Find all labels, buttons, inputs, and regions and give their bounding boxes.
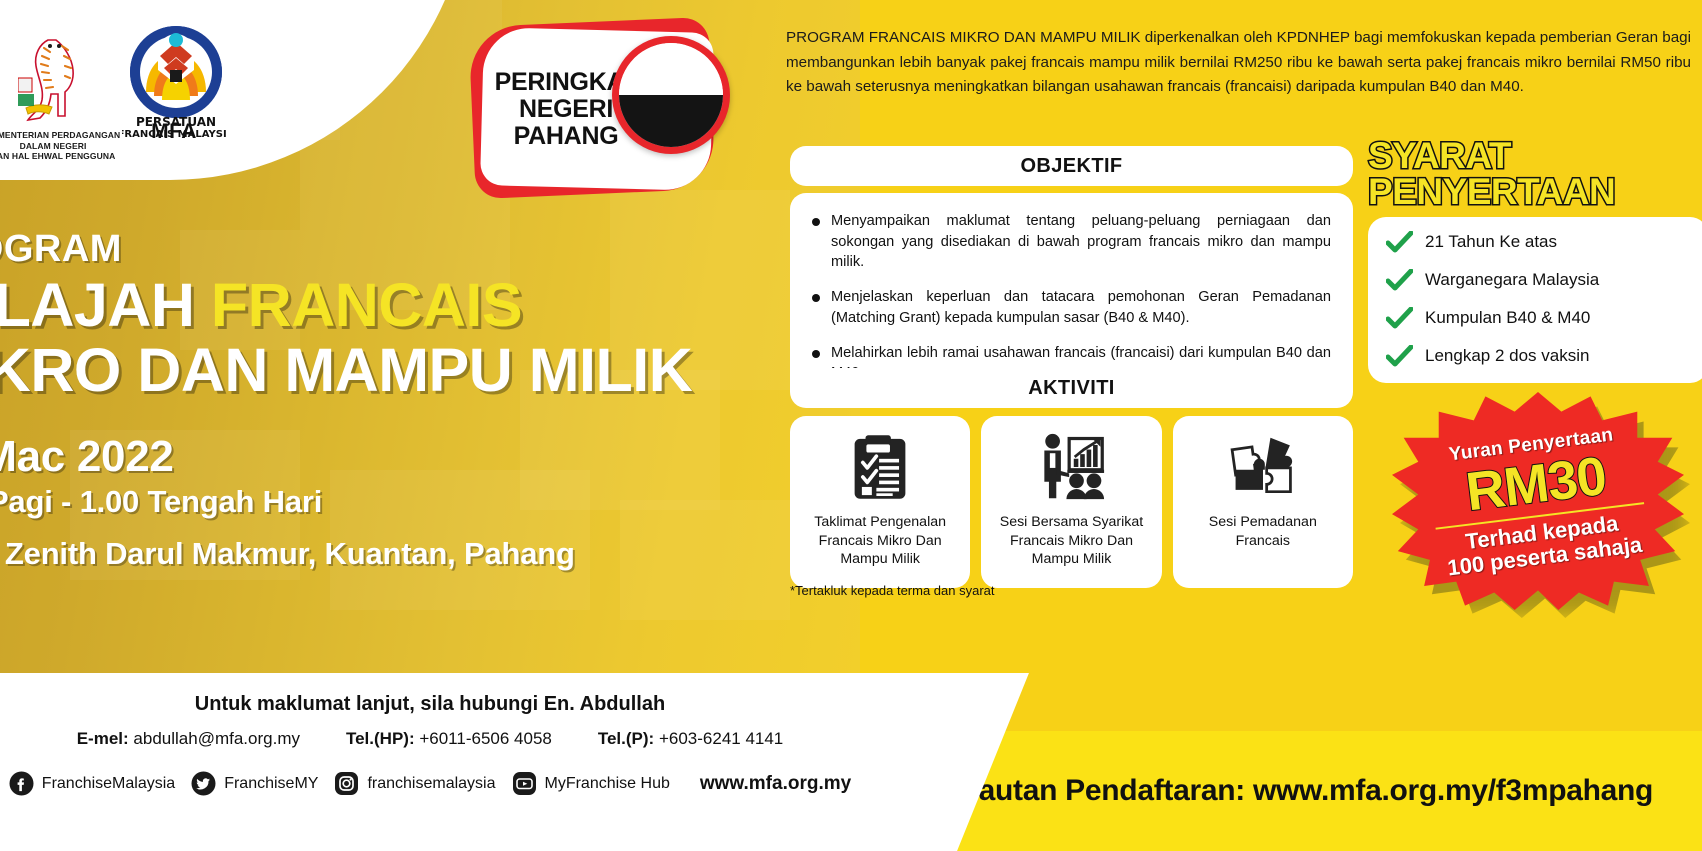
aktiviti-card-label: Sesi Bersama Syarikat Francais Mikro Dan… (981, 513, 1161, 569)
puzzle-pieces-icon (1226, 430, 1300, 504)
syarat-item: Warganegara Malaysia (1386, 269, 1698, 291)
social-facebook[interactable]: FranchiseMalaysia (9, 771, 175, 796)
contact-details-row: E-mel: abdullah@mfa.org.my Tel.(HP): +60… (0, 729, 860, 749)
syarat-section: SYARAT PENYERTAAN 21 Tahun Ke atas Warga… (1368, 138, 1702, 383)
fee-badge-content: Yuran Penyertaan RM30 Terhad kepada 100 … (1380, 375, 1696, 627)
bullet-icon (812, 294, 820, 302)
aktiviti-card: Sesi Pemadanan Francais (1173, 416, 1353, 588)
contact-bar: Untuk maklumat lanjut, sila hubungi En. … (0, 673, 905, 851)
check-icon (1386, 345, 1413, 367)
social-handle: franchisemalaysia (367, 775, 495, 793)
contact-heading: Untuk maklumat lanjut, sila hubungi En. … (0, 693, 860, 716)
mfa-logo: PERSATUAN FRANCAIS MALAYSIA MFA (122, 14, 226, 164)
email-value: abdullah@mfa.org.my (133, 729, 300, 748)
title-line-1-highlight: FRANCAIS (211, 271, 522, 339)
check-icon (1386, 269, 1413, 291)
aktiviti-card: Taklimat Pengenalan Francais Mikro Dan M… (790, 416, 970, 588)
hp-label: Tel.(HP): (346, 729, 415, 748)
instagram-icon (334, 771, 359, 796)
objektif-heading: OBJEKTIF (790, 146, 1353, 186)
facebook-icon (9, 771, 34, 796)
malaysia-coat-of-arms-icon (18, 30, 104, 126)
aktiviti-heading: AKTIVITI (790, 368, 1353, 408)
fee-starburst-badge: Yuran Penyertaan RM30 Terhad kepada 100 … (1392, 392, 1702, 622)
clipboard-checklist-icon (843, 430, 917, 504)
hp-value: +6011-6506 4058 (419, 729, 552, 748)
syarat-list: 21 Tahun Ke atas Warganegara Malaysia Ku… (1368, 217, 1702, 383)
phone-value: +603-6241 4141 (659, 729, 783, 748)
title-line-1-plain: JELAJAH (0, 271, 211, 339)
peringkat-negeri-badge: PERINGKAT NEGERI PAHANG (462, 14, 732, 214)
objektif-item-text: Menyampaikan maklumat tentang peluang-pe… (831, 211, 1331, 273)
social-youtube[interactable]: MyFranchise Hub (512, 771, 670, 796)
intro-paragraph: PROGRAM FRANCAIS MIKRO DAN MAMPU MILIK d… (786, 26, 1691, 100)
syarat-heading: SYARAT PENYERTAAN (1368, 138, 1702, 211)
program-kicker: PROGRAM (0, 228, 800, 271)
phone-label: Tel.(P): (598, 729, 654, 748)
syarat-item: Lengkap 2 dos vaksin (1386, 345, 1698, 367)
objektif-item-text: Menjelaskan keperluan dan tatacara pemoh… (831, 287, 1331, 328)
social-row: FranchiseMalaysia FranchiseMY (0, 771, 860, 796)
mfa-abbr-label: MFA (122, 120, 226, 144)
contact-mobile[interactable]: Tel.(HP): +6011-6506 4058 (346, 729, 552, 749)
bullet-icon (812, 218, 820, 226)
youtube-icon (512, 771, 537, 796)
syarat-item-text: Kumpulan B40 & M40 (1425, 308, 1590, 328)
twitter-icon (191, 771, 216, 796)
aktiviti-card: Sesi Bersama Syarikat Francais Mikro Dan… (981, 416, 1161, 588)
social-handle: FranchiseMY (224, 775, 318, 793)
social-handle: FranchiseMalaysia (42, 775, 175, 793)
event-venue: Hotel Zenith Darul Makmur, Kuantan, Paha… (0, 536, 800, 572)
title-line-2: MIKRO DAN MAMPU MILIK (0, 338, 800, 403)
aktiviti-section: AKTIVITI (790, 368, 1353, 588)
objektif-item: Menjelaskan keperluan dan tatacara pemoh… (812, 287, 1331, 328)
banner-canvas: KEMENTERIAN PERDAGANGAN DALAM NEGERI DAN… (0, 0, 1702, 851)
title-line-1: JELAJAH FRANCAIS (0, 273, 800, 338)
contact-email[interactable]: E-mel: abdullah@mfa.org.my (77, 729, 300, 749)
event-date: 17 Mac 2022 (0, 432, 800, 482)
aktiviti-card-label: Sesi Pemadanan Francais (1173, 513, 1353, 550)
check-icon (1386, 307, 1413, 329)
event-time: 9.00 Pagi - 1.00 Tengah Hari (0, 484, 800, 520)
syarat-item-text: Warganegara Malaysia (1425, 270, 1599, 290)
social-handle: MyFranchise Hub (545, 775, 670, 793)
email-label: E-mel: (77, 729, 129, 748)
aktiviti-card-row: Taklimat Pengenalan Francais Mikro Dan M… (790, 416, 1353, 588)
aktiviti-card-label: Taklimat Pengenalan Francais Mikro Dan M… (790, 513, 970, 569)
contact-phone[interactable]: Tel.(P): +603-6241 4141 (598, 729, 783, 749)
syarat-item-text: 21 Tahun Ke atas (1425, 232, 1557, 252)
syarat-item-text: Lengkap 2 dos vaksin (1425, 346, 1589, 366)
social-instagram[interactable]: franchisemalaysia (334, 771, 495, 796)
syarat-item: 21 Tahun Ke atas (1386, 231, 1698, 253)
bullet-icon (812, 350, 820, 358)
kpdnhep-label: KEMENTERIAN PERDAGANGAN DALAM NEGERI DAN… (0, 130, 128, 162)
syarat-item: Kumpulan B40 & M40 (1386, 307, 1698, 329)
objektif-item: Menyampaikan maklumat tentang peluang-pe… (812, 211, 1331, 273)
objektif-section: OBJEKTIF Menyampaikan maklumat tentang p… (790, 146, 1353, 400)
presentation-audience-icon (1034, 430, 1108, 504)
website-link[interactable]: www.mfa.org.my (700, 773, 851, 795)
terms-note: *Tertakluk kepada terma dan syarat (790, 583, 995, 598)
pahang-flag-icon (612, 36, 730, 154)
logo-row: KEMENTERIAN PERDAGANGAN DALAM NEGERI DAN… (0, 14, 230, 164)
social-twitter[interactable]: FranchiseMY (191, 771, 318, 796)
check-icon (1386, 231, 1413, 253)
kpdnhep-crest: KEMENTERIAN PERDAGANGAN DALAM NEGERI DAN… (0, 14, 118, 164)
title-block: PROGRAM JELAJAH FRANCAIS MIKRO DAN MAMPU… (0, 228, 800, 572)
